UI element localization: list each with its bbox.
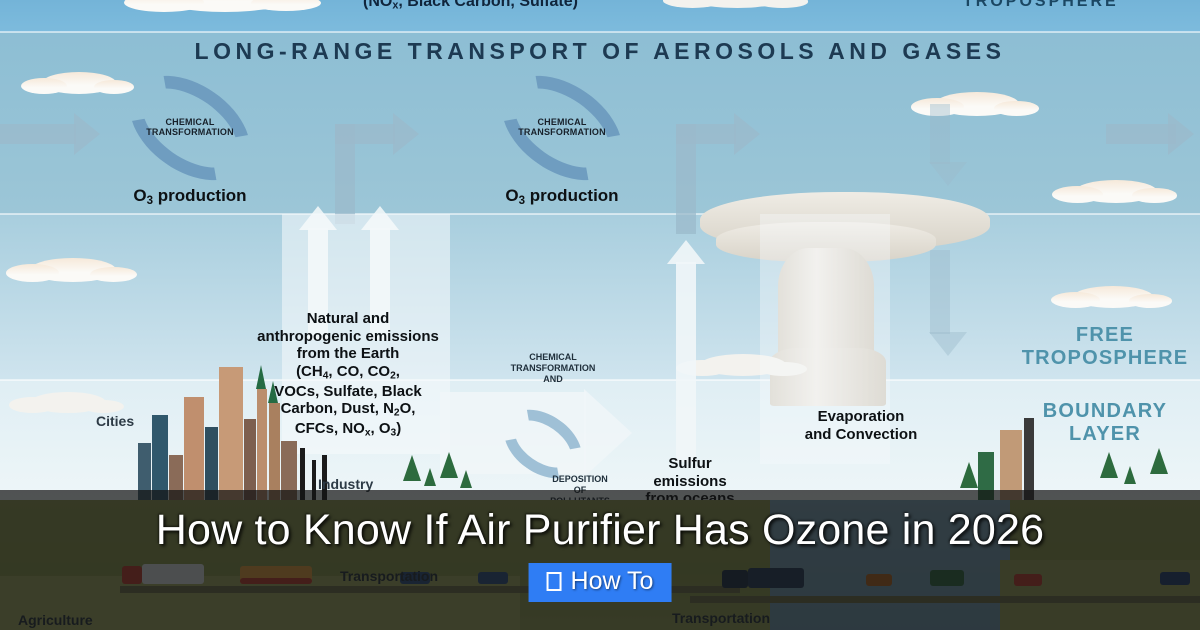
smokestack [1024,418,1034,500]
o3-production-label: O3 production [467,186,657,209]
cycle-label: CHEMICALTRANSFORMATION [518,118,606,138]
page-title: How to Know If Air Purifier Has Ozone in… [0,506,1200,555]
deposition-arrow-head [584,389,632,477]
chemical-transformation-cycle: CHEMICALTRANSFORMATION [123,85,257,171]
transport-arrow-head [734,113,760,155]
cloud [30,392,106,413]
spire [256,365,266,389]
cloud [1075,180,1157,203]
tree [440,452,458,478]
cities-label: Cities [96,413,134,429]
o3-production-label: O3 production [95,186,285,209]
transport-arrow-riser [676,124,696,234]
subsidence-arrow-shaft [930,104,950,164]
layer-divider-middle [0,213,1200,215]
chemical-transformation-cycle: CHEMICALTRANSFORMATION [495,85,629,171]
transport-arrow-shaft [1106,124,1176,144]
transport-arrow-head [1168,113,1194,155]
updraft-arrow-shaft [676,262,696,462]
cloud [690,0,785,8]
transport-arrow-shaft [0,124,76,144]
cut-label-pollutants: (NOx, Black Carbon, Sulfate) [363,0,578,12]
tree [460,470,472,488]
category-badge[interactable]: How To [529,563,672,602]
updraft-arrow-head [667,240,705,264]
cut-label-troposphere: TROPOSPHERE [963,0,1119,11]
cloud [160,0,290,12]
tree [403,455,421,481]
tree [424,468,436,486]
tree [1100,452,1118,478]
spire [268,381,278,403]
category-badge-label: How To [571,567,654,596]
infographic-canvas: (NOx, Black Carbon, Sulfate) TROPOSPHERE… [0,0,1200,630]
tree [1150,448,1168,474]
cloud [30,258,116,282]
cloud [1073,286,1153,308]
free-troposphere-label: FREE TROPOSPHERE [1015,324,1195,370]
transport-arrow-riser [335,124,355,224]
subsidence-arrow-head [929,162,967,186]
mid-chemical-cycle [500,415,586,473]
evaporation-convection-label: Evaporation and Convection [772,408,950,443]
tree [960,462,978,488]
layer-divider-top [0,31,1200,33]
boundary-layer-label: BOUNDARY LAYER [1015,400,1195,446]
tree [1124,466,1136,484]
mid-cycle-label: CHEMICAL TRANSFORMATION AND [478,352,628,384]
transport-arrow-head [393,113,419,155]
subsidence-arrow-shaft [930,250,950,334]
cloud [42,72,116,94]
diagram-banner-heading: LONG-RANGE TRANSPORT OF AEROSOLS AND GAS… [0,38,1200,65]
subsidence-arrow-head [929,332,967,356]
cycle-label: CHEMICALTRANSFORMATION [146,118,234,138]
transport-arrow-head [74,113,100,155]
missing-glyph-box-icon [547,572,562,591]
